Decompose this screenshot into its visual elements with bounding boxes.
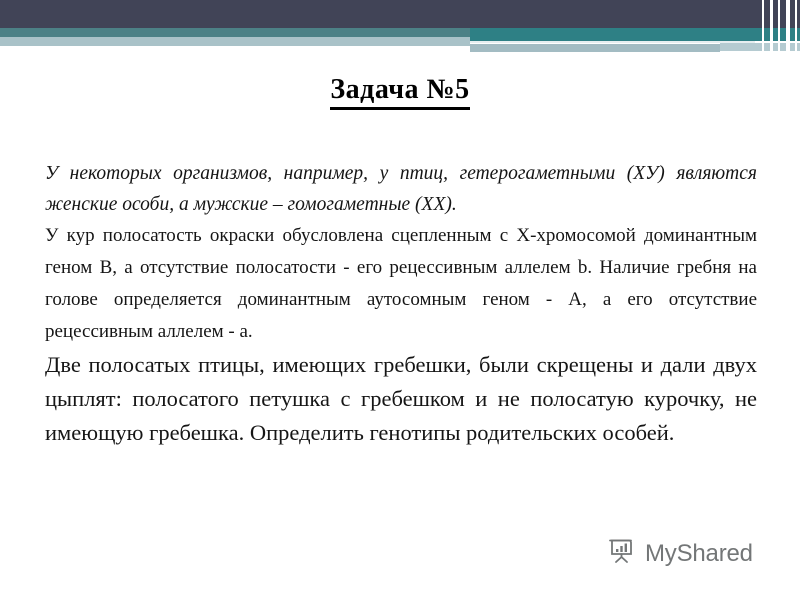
banner-stripe-4 [786, 0, 790, 52]
paragraph-conditions: У кур полосатость окраски обусловлена сц… [45, 220, 757, 348]
header-banner [0, 0, 800, 52]
presentation-chart-icon [607, 536, 637, 571]
myshared-watermark: MyShared [607, 536, 753, 571]
banner-pale-left-band [0, 37, 470, 46]
slide-body: У некоторых организмов, например, у птиц… [45, 158, 757, 450]
paragraph-task: Две полосатых птицы, имеющих гребешки, б… [45, 348, 757, 450]
slide-title-text: Задача №5 [330, 74, 469, 110]
myshared-watermark-label: MyShared [645, 540, 753, 568]
banner-steel-right-band [470, 44, 720, 52]
banner-stripe-3 [778, 0, 780, 52]
banner-stripe-1 [762, 0, 764, 52]
banner-dark-band [0, 0, 800, 28]
banner-stripe-2 [770, 0, 773, 52]
banner-teal-left-band [0, 28, 470, 37]
banner-pale-right-band [470, 41, 755, 43]
paragraph-intro: У некоторых организмов, например, у птиц… [45, 158, 757, 220]
banner-teal-right-band [470, 28, 800, 41]
banner-stripe-5 [795, 0, 797, 52]
slide-title: Задача №5 [0, 74, 800, 106]
